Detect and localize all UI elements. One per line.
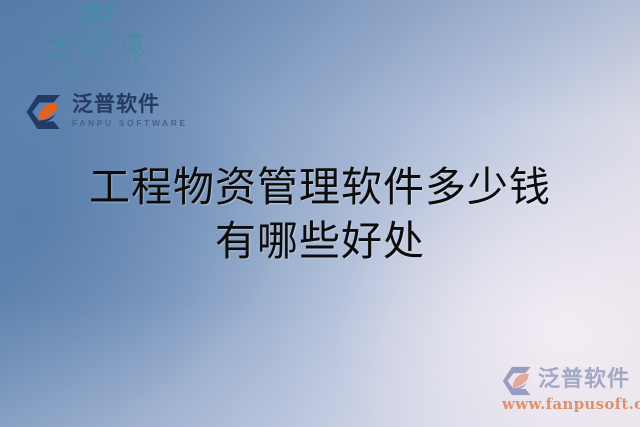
pixel-skyline-column-3 bbox=[122, 34, 148, 90]
brand-name-cn: 泛普软件 bbox=[72, 92, 182, 118]
fanpu-hexagon-logo-mark-icon bbox=[26, 94, 66, 130]
brand-logo-text: 泛普软件 FANPU SOFTWARE bbox=[72, 92, 182, 129]
brand-name-en: FANPU SOFTWARE bbox=[72, 118, 182, 129]
headline-line-2: 有哪些好处 bbox=[0, 214, 640, 268]
fanpu-hexagon-logo-mark-faded-icon bbox=[502, 366, 536, 396]
watermark-brand-name: 泛普软件 bbox=[538, 365, 630, 393]
pixel-skyline-column-1 bbox=[50, 40, 76, 90]
watermark: 泛普软件 www.fanpusoft.com bbox=[498, 364, 638, 420]
pixel-skyline-column-2 bbox=[82, 6, 116, 90]
headline: 工程物资管理软件多少钱 有哪些好处 bbox=[0, 160, 640, 268]
headline-line-1: 工程物资管理软件多少钱 bbox=[0, 160, 640, 214]
pixel-skyline-decoration bbox=[50, 2, 150, 90]
promo-banner: 泛普软件 FANPU SOFTWARE 工程物资管理软件多少钱 有哪些好处 泛普… bbox=[0, 0, 640, 427]
watermark-url: www.fanpusoft.com bbox=[502, 395, 640, 414]
brand-logo: 泛普软件 FANPU SOFTWARE bbox=[26, 92, 176, 136]
